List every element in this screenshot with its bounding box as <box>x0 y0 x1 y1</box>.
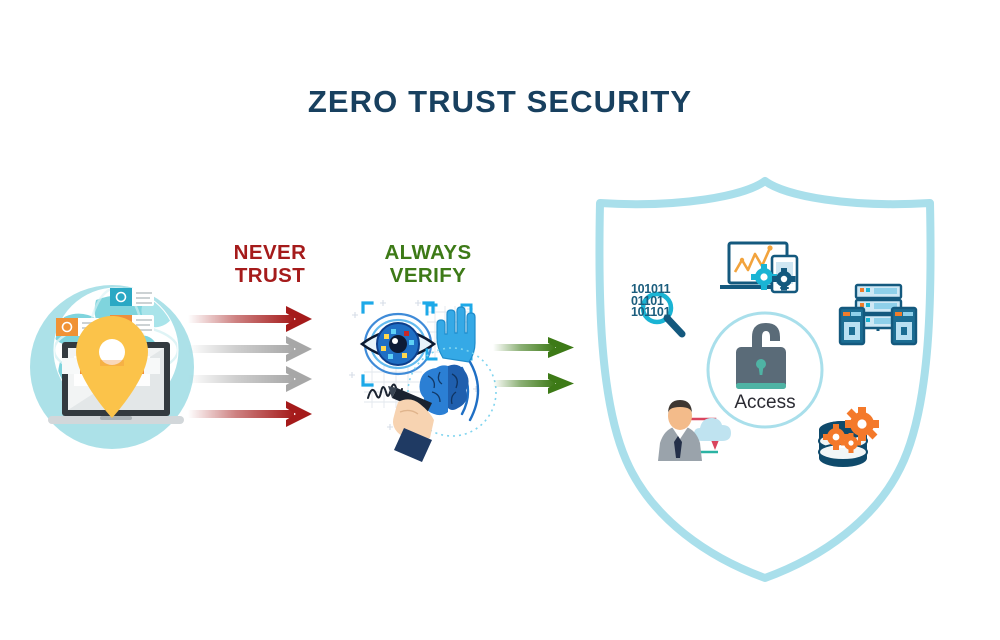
biometric-verification-cluster-icon <box>349 300 496 462</box>
infographic-graphics <box>0 0 1000 640</box>
arrow-red-2 <box>188 401 312 427</box>
globe-laptop-location-pin-icon <box>30 285 194 449</box>
infographic-canvas: ZERO TRUST SECURITY NEVER TRUST ALWAYS V… <box>0 0 1000 640</box>
arrow-green-1 <box>493 337 574 358</box>
arrow-green-2 <box>493 373 574 394</box>
access-label: Access <box>700 392 830 414</box>
arrow-red-1 <box>188 306 312 332</box>
chat-bubble-icon-3 <box>110 288 154 306</box>
iris-scan-icon <box>362 303 434 385</box>
always-verify-arrows <box>493 337 574 394</box>
arrow-gray-1 <box>188 336 312 362</box>
binary-code-text: 101011 01101 101101 <box>631 284 670 319</box>
arrow-gray-2 <box>188 366 312 392</box>
never-trust-arrows <box>188 306 312 427</box>
